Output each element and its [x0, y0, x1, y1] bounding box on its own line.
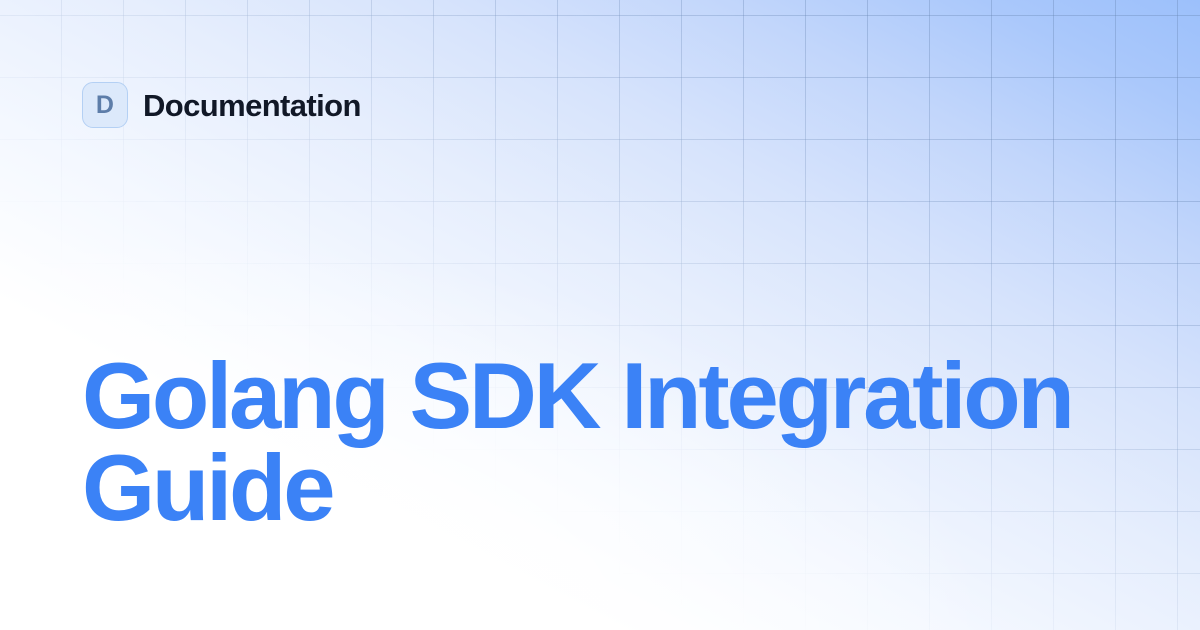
page-title: Golang SDK Integration Guide	[82, 350, 1092, 534]
card-content: D Documentation Golang SDK Integration G…	[0, 0, 1200, 630]
header: D Documentation	[82, 82, 361, 128]
badge-letter: D	[96, 93, 114, 118]
header-label: Documentation	[143, 90, 361, 121]
documentation-badge-icon: D	[82, 82, 128, 128]
og-card: D Documentation Golang SDK Integration G…	[0, 0, 1200, 630]
